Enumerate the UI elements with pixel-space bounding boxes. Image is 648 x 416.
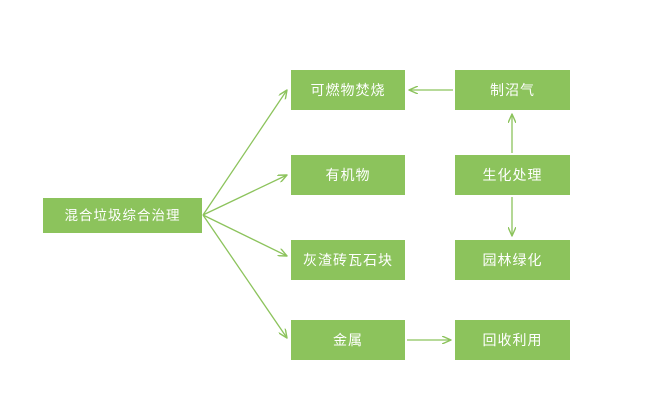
node-biogas-production[interactable]: 制沼气 <box>455 70 570 110</box>
node-organic-matter[interactable]: 有机物 <box>291 155 405 195</box>
connector-root-to-metal <box>203 215 287 338</box>
node-landscaping-label: 园林绿化 <box>483 253 543 267</box>
connector-root-to-ash <box>203 215 287 256</box>
node-combustible-incineration[interactable]: 可燃物焚烧 <box>291 70 405 110</box>
node-landscaping[interactable]: 园林绿化 <box>455 240 570 280</box>
node-root-label: 混合垃圾综合治理 <box>65 209 181 223</box>
node-ash-brick-stone[interactable]: 灰渣砖瓦石块 <box>291 240 405 280</box>
node-metal[interactable]: 金属 <box>291 320 405 360</box>
node-recycling-label: 回收利用 <box>483 333 543 347</box>
node-root-mixed-waste[interactable]: 混合垃圾综合治理 <box>43 198 202 233</box>
node-metal-label: 金属 <box>333 333 363 347</box>
node-biochemical-label: 生化处理 <box>483 168 543 182</box>
node-biochemical-treatment[interactable]: 生化处理 <box>455 155 570 195</box>
flowchart-canvas: 混合垃圾综合治理 可燃物焚烧 有机物 灰渣砖瓦石块 金属 制沼气 生化处理 园林… <box>0 0 648 416</box>
node-combustible-label: 可燃物焚烧 <box>311 83 386 97</box>
connector-root-to-combustible <box>203 90 287 215</box>
node-biogas-label: 制沼气 <box>490 83 535 97</box>
connector-root-to-organic <box>203 175 287 215</box>
node-recycling[interactable]: 回收利用 <box>455 320 570 360</box>
node-ash-label: 灰渣砖瓦石块 <box>303 253 393 267</box>
node-organic-label: 有机物 <box>326 168 371 182</box>
